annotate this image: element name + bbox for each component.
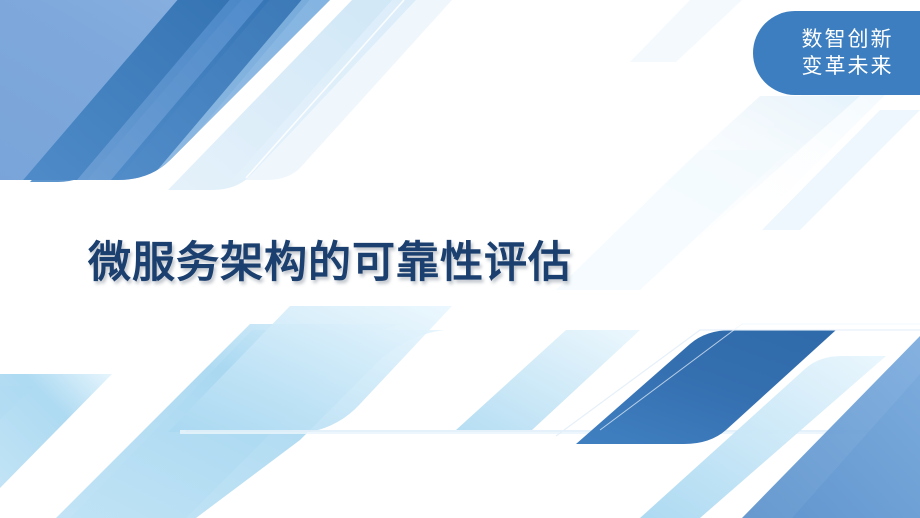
badge-line-1: 数智创新	[802, 26, 894, 53]
bl-band-1	[0, 374, 112, 488]
page-title: 微服务架构的可靠性评估	[88, 228, 572, 290]
badge-line-2: 变革未来	[802, 53, 894, 80]
corner-badge: 数智创新 变革未来	[753, 11, 920, 95]
mid-right-sheen	[556, 150, 790, 290]
title-slide: 数智创新 变革未来 微服务架构的可靠性评估	[0, 0, 920, 518]
